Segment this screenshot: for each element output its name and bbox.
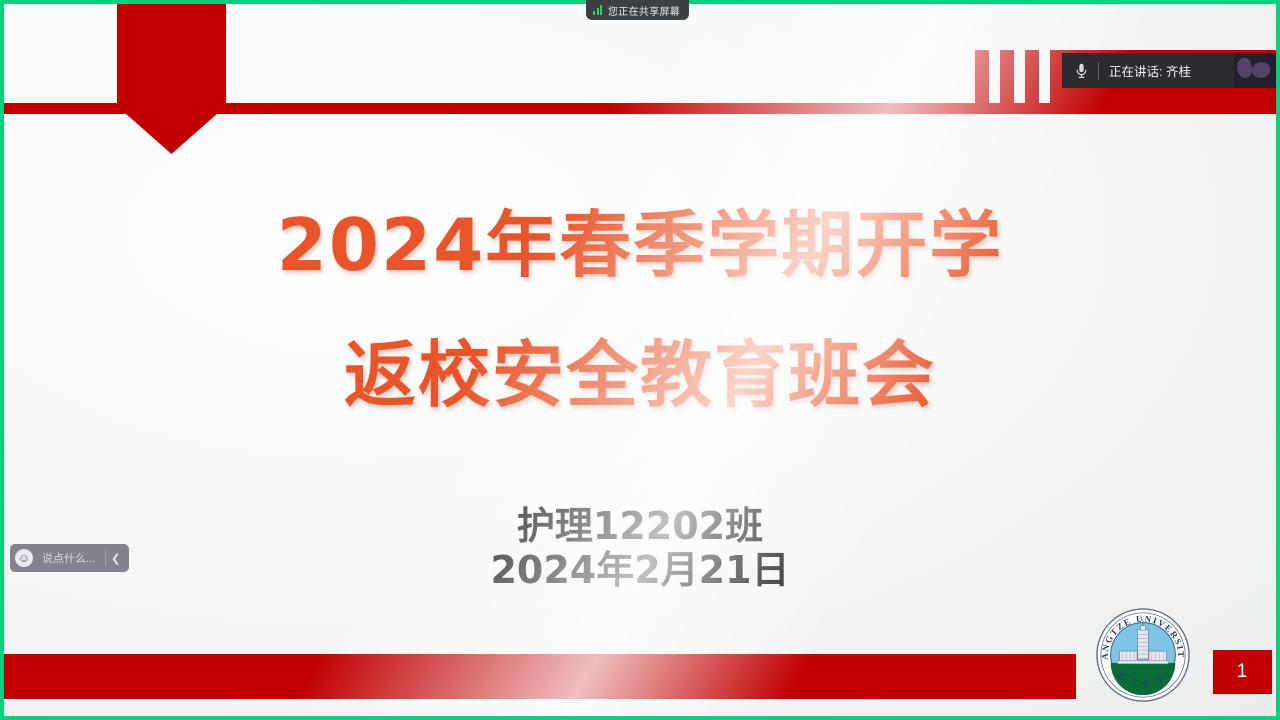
speaker-divider <box>1098 62 1099 80</box>
signal-bars-icon <box>593 5 602 15</box>
decoration-white-box <box>4 4 117 103</box>
chat-composer[interactable]: ☺ 说点什么... ❮ <box>10 544 129 572</box>
participant-video-thumbnail[interactable] <box>1234 53 1276 88</box>
chevron-left-icon[interactable]: ❮ <box>106 552 125 565</box>
screen-sharing-label: 您正在共享屏幕 <box>608 3 680 18</box>
screen-sharing-indicator[interactable]: 您正在共享屏幕 <box>586 0 689 20</box>
chat-input[interactable]: 说点什么... <box>42 550 95 566</box>
slide-title-line-1: 2024年春季学期开学 <box>4 209 1276 281</box>
slide-page-number: 1 <box>1213 650 1272 694</box>
shared-slide-canvas: 2024年春季学期开学 返校安全教育班会 护理12202班 2024年2月21日 <box>4 4 1276 716</box>
slide-subtitle-line-2: 2024年2月21日 <box>4 548 1276 592</box>
decoration-red-bar-1 <box>975 50 989 103</box>
decoration-footer-bar <box>4 654 1076 699</box>
yangtze-university-logo: YANGTZE UNIVERSITY 长江大学 <box>1094 606 1192 704</box>
active-speaker-bar[interactable]: 正在讲话: 齐桂 <box>1062 53 1276 88</box>
slide-subtitle-line-1: 护理12202班 <box>4 504 1276 548</box>
emoji-smiley-icon[interactable]: ☺ <box>15 549 33 567</box>
decoration-red-ribbon-banner <box>117 4 226 154</box>
slide-title-line-2: 返校安全教育班会 <box>4 339 1276 411</box>
decoration-red-bar-3 <box>1025 50 1039 103</box>
slide-subtitle: 护理12202班 2024年2月21日 <box>4 504 1276 592</box>
active-speaker-label: 正在讲话: 齐桂 <box>1109 61 1234 80</box>
decoration-red-bar-2 <box>1000 50 1014 103</box>
slide-title: 2024年春季学期开学 返校安全教育班会 <box>4 209 1276 411</box>
microphone-icon <box>1072 62 1090 80</box>
